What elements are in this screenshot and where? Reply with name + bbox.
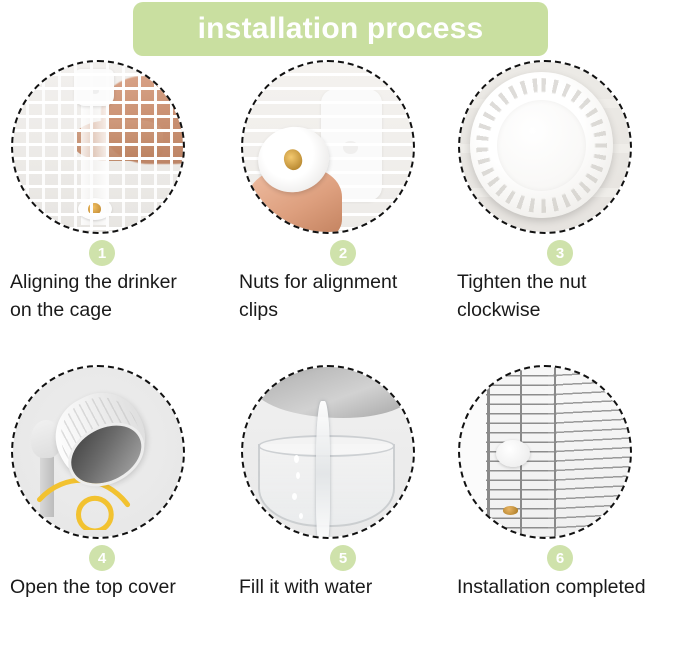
- nut-closeup-scene: [460, 62, 630, 232]
- step-1-badge: 1: [89, 240, 115, 266]
- tighten-nut-photo: [460, 62, 630, 232]
- step-2-caption: Nuts for alignment clips: [215, 269, 441, 324]
- page-title: installation process: [198, 14, 484, 44]
- step-4: 4 Open the top cover: [0, 367, 205, 602]
- cage-post: [554, 367, 557, 537]
- step-4-caption: Open the top cover: [0, 574, 205, 602]
- step-6: 6 Installation completed: [447, 367, 673, 602]
- nut-cap: [470, 72, 613, 218]
- cage-post: [487, 367, 490, 537]
- step-5-badge: 5: [330, 545, 356, 571]
- step-2-photo-wrap: [243, 62, 413, 232]
- step-3: 3 Tighten the nut clockwise: [447, 62, 673, 324]
- step-5-caption: Fill it with water: [215, 574, 441, 602]
- water-stream: [316, 401, 330, 537]
- alignment-nut-photo: [243, 62, 413, 232]
- header-banner: installation process: [133, 2, 548, 56]
- open-cover-scene: [13, 367, 183, 537]
- step-4-photo-wrap: [13, 367, 183, 537]
- fill-with-water-photo: [243, 367, 413, 537]
- step-5: 5 Fill it with water: [215, 367, 441, 602]
- cage-horizontal-bars: [13, 62, 183, 232]
- step-6-photo-wrap: [460, 367, 630, 537]
- pouring-vessel: [253, 367, 413, 418]
- step-5-photo-wrap: [243, 367, 413, 537]
- step-2-badge: 2: [330, 240, 356, 266]
- step-1-caption: Aligning the drinker on the cage: [0, 269, 205, 324]
- nut-inner-face: [497, 100, 586, 191]
- step-6-badge: 6: [547, 545, 573, 571]
- open-top-cover-photo: [13, 367, 183, 537]
- step-2: 2 Nuts for alignment clips: [215, 62, 441, 324]
- step-1-photo-wrap: [13, 62, 183, 232]
- cage-scene: [13, 62, 183, 232]
- nut-scene: [243, 62, 413, 232]
- step-6-caption: Installation completed: [447, 574, 673, 602]
- pouring-water-scene: [243, 367, 413, 537]
- installation-process-infographic: installation process: [0, 0, 679, 668]
- water-droplet: [296, 472, 300, 479]
- drinker-on-cage-photo: [13, 62, 183, 232]
- step-3-photo-wrap: [460, 62, 630, 232]
- finished-cage-scene: [460, 367, 630, 537]
- step-4-badge: 4: [89, 545, 115, 571]
- mounted-drinker: [496, 440, 530, 467]
- installation-completed-photo: [460, 367, 630, 537]
- brass-nozzle: [503, 506, 518, 515]
- step-3-badge: 3: [547, 240, 573, 266]
- step-1: 1 Aligning the drinker on the cage: [0, 62, 205, 324]
- cage-side-bars: [548, 367, 630, 537]
- step-3-caption: Tighten the nut clockwise: [447, 269, 673, 324]
- steps-grid: 1 Aligning the drinker on the cage 2 Nut…: [0, 62, 679, 668]
